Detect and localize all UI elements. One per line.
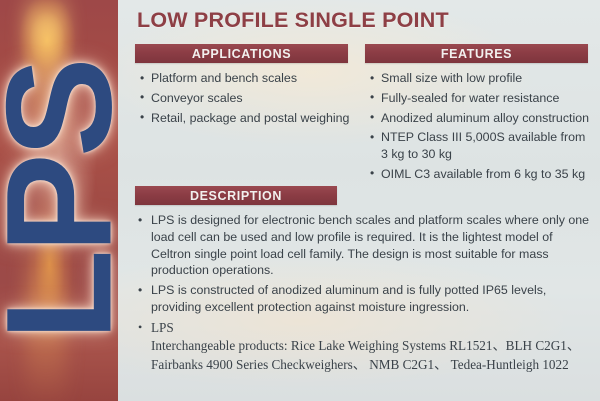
features-list: Small size with low profile Fully-sealed… xyxy=(370,70,595,186)
list-item: Anodized aluminum alloy construction xyxy=(370,110,595,127)
description-list: LPS is designed for electronic bench sca… xyxy=(137,212,592,377)
content-panel: LOW PROFILE SINGLE POINT APPLICATIONS Pl… xyxy=(118,0,600,401)
features-heading-label: FEATURES xyxy=(441,47,512,61)
list-item: NTEP Class III 5,000S available from 3 k… xyxy=(370,129,595,162)
section-header-applications: APPLICATIONS xyxy=(135,44,348,63)
description-item: LPS is constructed of anodized aluminum … xyxy=(137,282,592,316)
interchangeable-line-2: Fairbanks 4900 Series Checkweighers、 NMB… xyxy=(151,356,592,374)
description-heading-label: DESCRIPTION xyxy=(190,189,282,203)
applications-heading-label: APPLICATIONS xyxy=(192,47,291,61)
description-item-interchangeable: LPS Interchangeable products: Rice Lake … xyxy=(137,319,592,374)
product-logo-rail: LPS xyxy=(0,0,118,401)
list-item: Retail, package and postal weighing xyxy=(140,110,355,127)
description-item: LPS is designed for electronic bench sca… xyxy=(137,212,592,279)
list-item: OIML C3 available from 6 kg to 35 kg xyxy=(370,166,595,183)
list-item: Small size with low profile xyxy=(370,70,595,87)
section-header-description: DESCRIPTION xyxy=(135,186,337,205)
interchangeable-line-1: Interchangeable products: Rice Lake Weig… xyxy=(151,337,592,355)
datasheet-page: LPS LOW PROFILE SINGLE POINT APPLICATION… xyxy=(0,0,600,401)
applications-list: Platform and bench scales Conveyor scale… xyxy=(140,70,355,129)
list-item: Conveyor scales xyxy=(140,90,355,107)
section-header-features: FEATURES xyxy=(365,44,588,63)
list-item: Fully-sealed for water resistance xyxy=(370,90,595,107)
page-title: LOW PROFILE SINGLE POINT xyxy=(137,8,449,33)
list-item: Platform and bench scales xyxy=(140,70,355,87)
interchangeable-label: LPS xyxy=(151,319,592,337)
rail-logo-label: LPS xyxy=(0,61,118,341)
